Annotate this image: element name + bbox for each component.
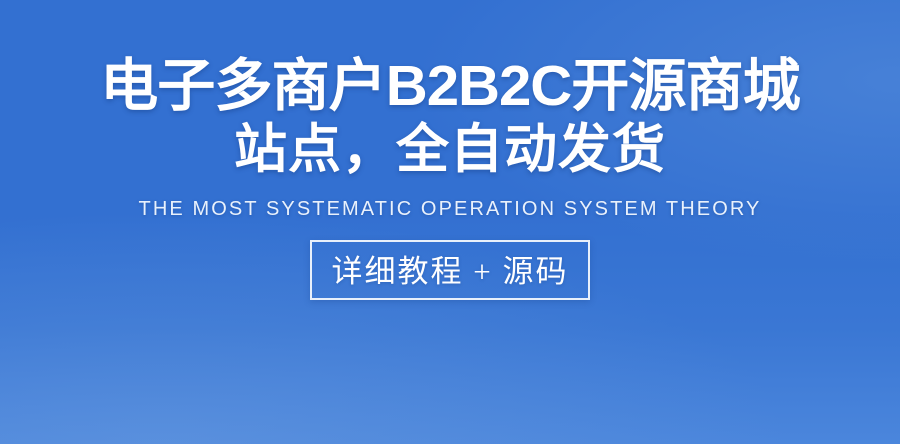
banner-subtitle: THE MOST SYSTEMATIC OPERATION SYSTEM THE… [139, 198, 762, 221]
promo-banner: 电子多商户B2B2C开源商城 站点，全自动发货 THE MOST SYSTEMA… [0, 0, 900, 444]
cta-box[interactable]: 详细教程 + 源码 [310, 240, 591, 300]
cta-label: 详细教程 + 源码 [332, 254, 569, 289]
banner-content: 电子多商户B2B2C开源商城 站点，全自动发货 THE MOST SYSTEMA… [0, 0, 900, 444]
banner-title-line-2: 站点，全自动发货 [234, 123, 666, 176]
banner-title-line-1: 电子多商户B2B2C开源商城 [100, 58, 800, 115]
